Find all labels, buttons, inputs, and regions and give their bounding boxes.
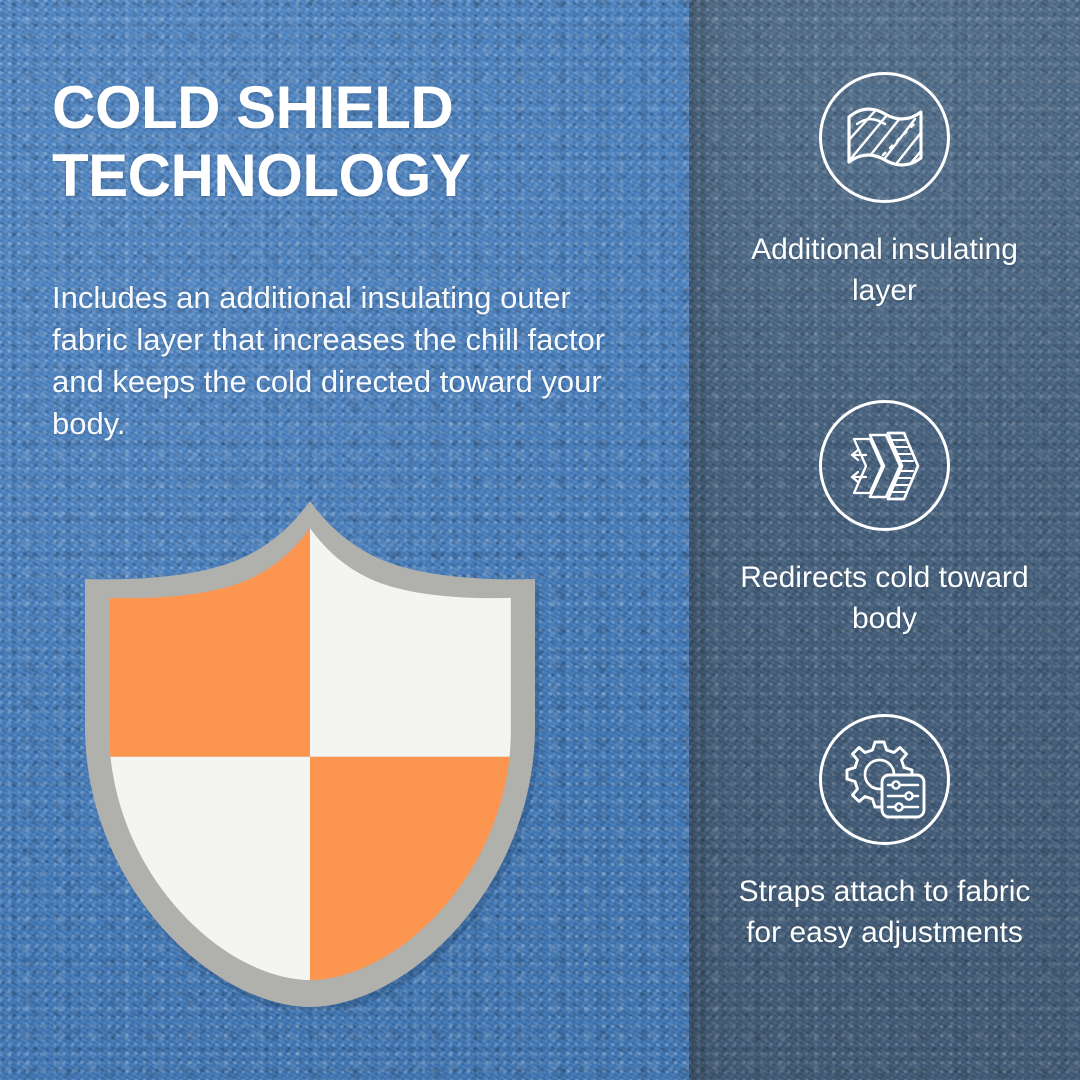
fabric-swatch-icon xyxy=(819,72,950,203)
feature-label: Additional insulating layer xyxy=(720,229,1050,312)
feature-item: Additional insulating layer xyxy=(689,72,1080,312)
feature-item: Straps attach to fabric for easy adjustm… xyxy=(689,714,1080,954)
feature-label: Redirects cold toward body xyxy=(720,557,1050,640)
feature-item: Redirects cold toward body xyxy=(689,400,1080,640)
gear-sliders-icon xyxy=(819,714,950,845)
quartered-shield-icon xyxy=(75,495,545,1010)
description-text: Includes an additional insulating outer … xyxy=(52,277,618,446)
layered-chevrons-icon xyxy=(819,400,950,531)
feature-list: Additional insulating layer xyxy=(689,0,1080,1080)
feature-label: Straps attach to fabric for easy adjustm… xyxy=(720,871,1050,954)
page-title: COLD SHIELD TECHNOLOGY xyxy=(52,74,652,210)
infographic-canvas: COLD SHIELD TECHNOLOGY Includes an addit… xyxy=(0,0,1080,1080)
